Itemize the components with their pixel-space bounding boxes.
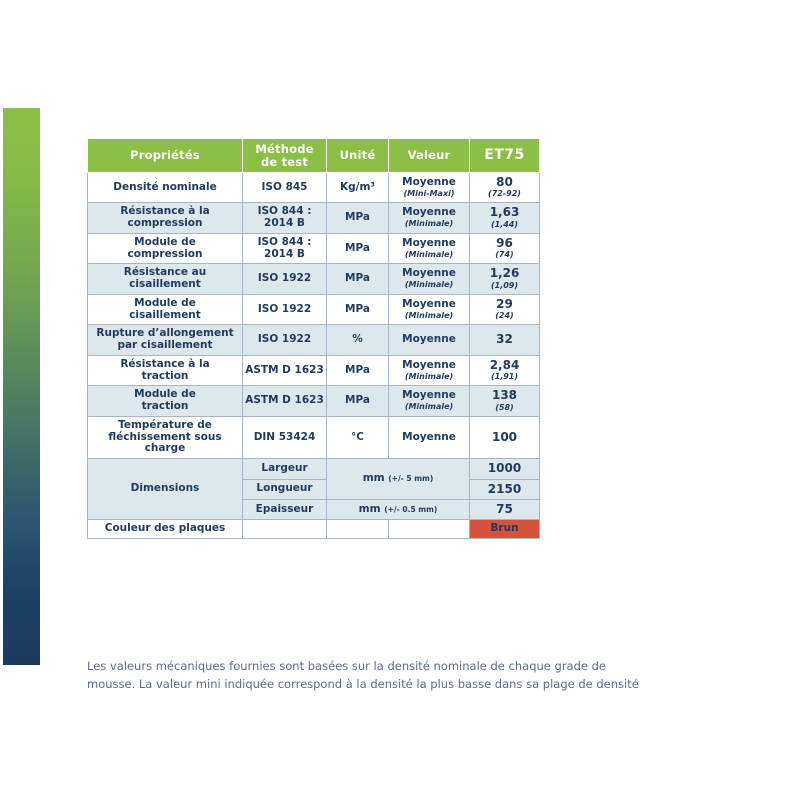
unit-value: MPa (345, 364, 370, 376)
cell-method: ISO 844 : 2014 B (243, 233, 327, 264)
cell-dimension-value: 2150 (470, 479, 540, 499)
dimension-value: 2150 (472, 483, 537, 496)
page-root: Propriétés Méthode de test Unité Valeur … (0, 0, 800, 800)
et75-sub: (72-92) (472, 190, 537, 199)
cell-property: Résistance à la compression (88, 203, 243, 234)
cell-dimension-name: Epaisseur (243, 500, 327, 520)
valeur-main: Moyenne (402, 206, 456, 218)
cell-unit: °C (327, 416, 389, 458)
cell-method: ISO 1922 (243, 325, 327, 356)
property-line2: cisaillement (129, 309, 201, 321)
table-row-couleur-des-plaques: Couleur des plaques Brun (88, 520, 540, 539)
column-header-valeur: Valeur (389, 139, 470, 173)
property-line2: traction (142, 370, 189, 382)
cell-method: ISO 845 (243, 173, 327, 203)
cell-et75: 32 (470, 325, 540, 356)
et75-sub: (58) (472, 404, 537, 413)
valeur-main: Moyenne (402, 237, 456, 249)
cell-et75: 1,63 (1,44) (470, 203, 540, 234)
cell-et75: 29 (24) (470, 294, 540, 325)
property-line1: Résistance à la (120, 205, 209, 217)
valeur-main: Moyenne (402, 298, 456, 310)
cell-method: ISO 1922 (243, 294, 327, 325)
table-row: Rupture d’allongement par cisaillement I… (88, 325, 540, 356)
cell-valeur: Moyenne (Minimale) (389, 355, 470, 386)
valeur-sub: (Minimale) (391, 403, 467, 412)
et75-main: 29 (472, 298, 537, 311)
table-body: Densité nominale ISO 845 Kg/m³ Moyenne (… (88, 173, 540, 539)
valeur-sub: (Minimale) (391, 220, 467, 229)
table-row: Module de traction ASTM D 1623 MPa Moyen… (88, 386, 540, 417)
table-row: Résistance à la compression ISO 844 : 20… (88, 203, 540, 234)
et75-main: 138 (472, 389, 537, 402)
property-line1: Rupture d’allongement (96, 327, 233, 339)
cell-valeur: Moyenne (Minimale) (389, 386, 470, 417)
cell-dimension-value: 1000 (470, 459, 540, 479)
cell-unit: MPa (327, 386, 389, 417)
cell-method: ASTM D 1623 (243, 386, 327, 417)
table-row: Module de compression ISO 844 : 2014 B M… (88, 233, 540, 264)
et75-main: 1,26 (472, 267, 537, 280)
unit-tolerance: (+/- 5 mm) (388, 474, 433, 483)
method-line1: ISO 844 : (258, 205, 312, 217)
property-line1: Module de (134, 388, 196, 400)
et75-main: 80 (472, 176, 537, 189)
cell-dimension-unit-tolerance: mm (+/- 5 mm) (327, 459, 470, 500)
methode-line2: de test (261, 155, 308, 169)
cell-et75: 96 (74) (470, 233, 540, 264)
property-line2: traction (142, 400, 189, 412)
dimension-value: 1000 (472, 462, 537, 475)
et75-sub: (74) (472, 251, 537, 260)
cell-unit: MPa (327, 355, 389, 386)
valeur-sub: (Mini-Maxi) (391, 190, 467, 199)
cell-unit: MPa (327, 203, 389, 234)
cell-dimensions-label: Dimensions (88, 459, 243, 520)
property-line2: compression (128, 248, 203, 260)
property-line1: Module de (134, 297, 196, 309)
property-line2: compression (128, 217, 203, 229)
property-line1: Résistance à la (120, 358, 209, 370)
footnote-line1: Les valeurs mécaniques fournies sont bas… (87, 658, 647, 676)
cell-method: ISO 844 : 2014 B (243, 203, 327, 234)
method-line1: ISO 1922 (258, 303, 311, 315)
cell-et75: 80 (72-92) (470, 173, 540, 203)
cell-property: Densité nominale (88, 173, 243, 203)
et75-main: 96 (472, 237, 537, 250)
cell-valeur: Moyenne (Minimale) (389, 233, 470, 264)
method-line1: ISO 844 : (258, 236, 312, 248)
cell-valeur: Moyenne (Mini-Maxi) (389, 173, 470, 203)
et75-main: 100 (472, 431, 537, 444)
valeur-sub: (Minimale) (391, 251, 467, 260)
unit-value: MPa (345, 242, 370, 254)
cell-property: Module de compression (88, 233, 243, 264)
cell-property: Couleur des plaques (88, 520, 243, 539)
valeur-sub: (Minimale) (391, 312, 467, 321)
cell-unit: MPa (327, 264, 389, 295)
cell-et75: 100 (470, 416, 540, 458)
cell-valeur: Moyenne (Minimale) (389, 294, 470, 325)
property-line2: fléchissement sous (108, 431, 221, 443)
et75-sub: (1,44) (472, 221, 537, 230)
cell-valeur: Moyenne (Minimale) (389, 264, 470, 295)
column-header-unite: Unité (327, 139, 389, 173)
cell-et75-color-swatch: Brun (470, 520, 540, 539)
cell-property: Module de cisaillement (88, 294, 243, 325)
unit-value: MPa (345, 394, 370, 406)
cell-unit: % (327, 325, 389, 356)
property-line1: Température de (118, 419, 212, 431)
cell-property: Résistance à la traction (88, 355, 243, 386)
cell-et75: 2,84 (1,91) (470, 355, 540, 386)
unit-value: MPa (345, 272, 370, 284)
cell-unit-empty (327, 520, 389, 539)
property-line1: Résistance au (124, 266, 206, 278)
method-line1: ASTM D 1623 (245, 364, 324, 376)
cell-method: ASTM D 1623 (243, 355, 327, 386)
cell-valeur: Moyenne (389, 325, 470, 356)
property-line2: cisaillement (129, 278, 201, 290)
technical-specification-table: Propriétés Méthode de test Unité Valeur … (87, 138, 540, 539)
unit-value: °C (351, 431, 364, 443)
valeur-main: Moyenne (402, 431, 456, 443)
cell-property: Résistance au cisaillement (88, 264, 243, 295)
cell-valeur: Moyenne (Minimale) (389, 203, 470, 234)
cell-property: Température de fléchissement sous charge (88, 416, 243, 458)
table-row: Résistance au cisaillement ISO 1922 MPa … (88, 264, 540, 295)
cell-valeur: Moyenne (389, 416, 470, 458)
left-accent-gradient-bar (3, 108, 40, 665)
column-header-et75: ET75 (470, 139, 540, 173)
footnote-text: Les valeurs mécaniques fournies sont bas… (87, 658, 647, 694)
property-line3: charge (145, 442, 186, 454)
method-line1: DIN 53424 (254, 431, 316, 443)
method-line1: ISO 1922 (258, 272, 311, 284)
table-header-row: Propriétés Méthode de test Unité Valeur … (88, 139, 540, 173)
cell-dimension-name: Longueur (243, 479, 327, 499)
column-header-proprietes: Propriétés (88, 139, 243, 173)
valeur-sub: (Minimale) (391, 281, 467, 290)
method-line1: ISO 845 (262, 181, 308, 193)
dimension-value: 75 (472, 503, 537, 516)
unit-value: MPa (345, 303, 370, 315)
method-line2: 2014 B (264, 217, 305, 229)
cell-property: Rupture d’allongement par cisaillement (88, 325, 243, 356)
property-line1: Module de (134, 236, 196, 248)
table-header: Propriétés Méthode de test Unité Valeur … (88, 139, 540, 173)
method-line1: ISO 1922 (258, 333, 311, 345)
table-row: Température de fléchissement sous charge… (88, 416, 540, 458)
et75-main: 2,84 (472, 359, 537, 372)
cell-method: ISO 1922 (243, 264, 327, 295)
cell-method-empty (243, 520, 327, 539)
cell-method: DIN 53424 (243, 416, 327, 458)
valeur-main: Moyenne (402, 176, 456, 188)
cell-unit: Kg/m³ (327, 173, 389, 203)
cell-unit: MPa (327, 294, 389, 325)
unit-main: mm (363, 472, 385, 484)
property-line2: par cisaillement (117, 339, 212, 351)
column-header-methode-de-test: Méthode de test (243, 139, 327, 173)
cell-property: Module de traction (88, 386, 243, 417)
cell-et75: 138 (58) (470, 386, 540, 417)
unit-value: Kg/m³ (340, 181, 375, 193)
table-row: Densité nominale ISO 845 Kg/m³ Moyenne (… (88, 173, 540, 203)
et75-main: 1,63 (472, 206, 537, 219)
method-line1: ASTM D 1623 (245, 394, 324, 406)
valeur-main: Moyenne (402, 267, 456, 279)
unit-value: MPa (345, 211, 370, 223)
cell-unit: MPa (327, 233, 389, 264)
unit-value: % (352, 333, 363, 345)
unit-tolerance: (+/- 0.5 mm) (384, 505, 437, 514)
property-line1: Densité nominale (113, 181, 216, 193)
cell-dimension-name: Largeur (243, 459, 327, 479)
cell-valeur-empty (389, 520, 470, 539)
et75-sub: (1,09) (472, 282, 537, 291)
valeur-main: Moyenne (402, 389, 456, 401)
footnote-line2: mousse. La valeur mini indiquée correspo… (87, 676, 647, 694)
unit-main: mm (359, 503, 381, 515)
et75-sub: (24) (472, 312, 537, 321)
cell-dimension-unit-tolerance: mm (+/- 0.5 mm) (327, 500, 470, 520)
valeur-sub: (Minimale) (391, 373, 467, 382)
cell-et75: 1,26 (1,09) (470, 264, 540, 295)
et75-sub: (1,91) (472, 373, 537, 382)
table-row: Résistance à la traction ASTM D 1623 MPa… (88, 355, 540, 386)
valeur-main: Moyenne (402, 359, 456, 371)
table-row-dimensions-largeur: Dimensions Largeur mm (+/- 5 mm) 1000 (88, 459, 540, 479)
valeur-main: Moyenne (402, 333, 456, 345)
cell-dimension-value: 75 (470, 500, 540, 520)
table-row: Module de cisaillement ISO 1922 MPa Moye… (88, 294, 540, 325)
method-line2: 2014 B (264, 248, 305, 260)
et75-main: 32 (472, 333, 537, 346)
